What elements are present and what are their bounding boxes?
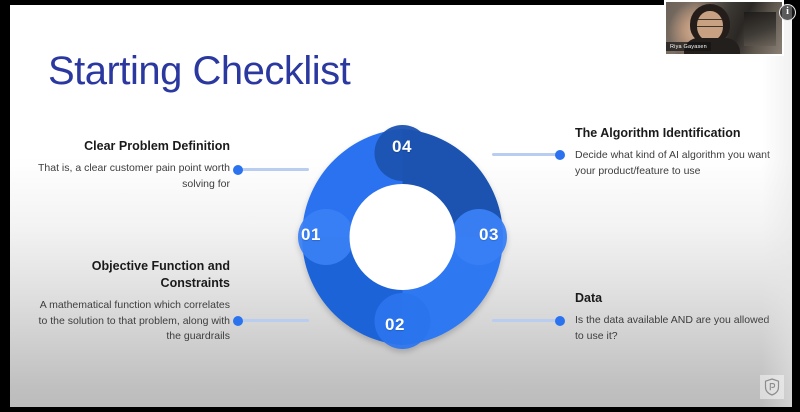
callout-objective-function-and-constraints: Objective Function and Constraints A mat… [30,258,230,345]
callout-heading: Data [575,290,770,307]
callout-body: Decide what kind of AI algorithm you wan… [575,148,770,180]
callout-body: That is, a clear customer pain point wor… [30,161,230,193]
connector-dot-icon [555,150,565,160]
info-icon[interactable]: i [779,4,796,21]
webcam-background-window [744,12,776,46]
callout-clear-problem-definition: Clear Problem Definition That is, a clea… [30,138,230,192]
connector-dot-icon [555,316,565,326]
shield-watermark [760,375,784,399]
page-title: Starting Checklist [48,49,350,94]
connector-dot-icon [233,316,243,326]
participant-name-label: Riya Gayasen [666,42,711,51]
webcam-self-view[interactable]: Riya Gayasen [664,0,784,56]
callout-the-algorithm-identification: The Algorithm Identification Decide what… [575,125,770,179]
callout-body: Is the data available AND are you allowe… [575,313,770,345]
connector-dot-icon [233,165,243,175]
callout-heading: Clear Problem Definition [30,138,230,155]
webcam-person-glasses [697,19,723,27]
donut-hole [350,184,456,290]
callout-body: A mathematical function which correlates… [30,298,230,345]
callout-heading: The Algorithm Identification [575,125,770,142]
donut-label-01: 01 [301,225,321,245]
donut-diagram: 01 02 03 04 [290,117,515,357]
callout-data: Data Is the data available AND are you a… [575,290,770,344]
video-call-screen: Starting Checklist [0,0,800,412]
donut-label-04: 04 [392,137,412,157]
donut-label-03: 03 [479,225,499,245]
donut-label-02: 02 [385,315,405,335]
callout-heading: Objective Function and Constraints [30,258,230,292]
slide-edge-gradient [762,5,792,407]
presentation-slide: Starting Checklist [10,5,792,407]
shield-icon [764,378,780,396]
